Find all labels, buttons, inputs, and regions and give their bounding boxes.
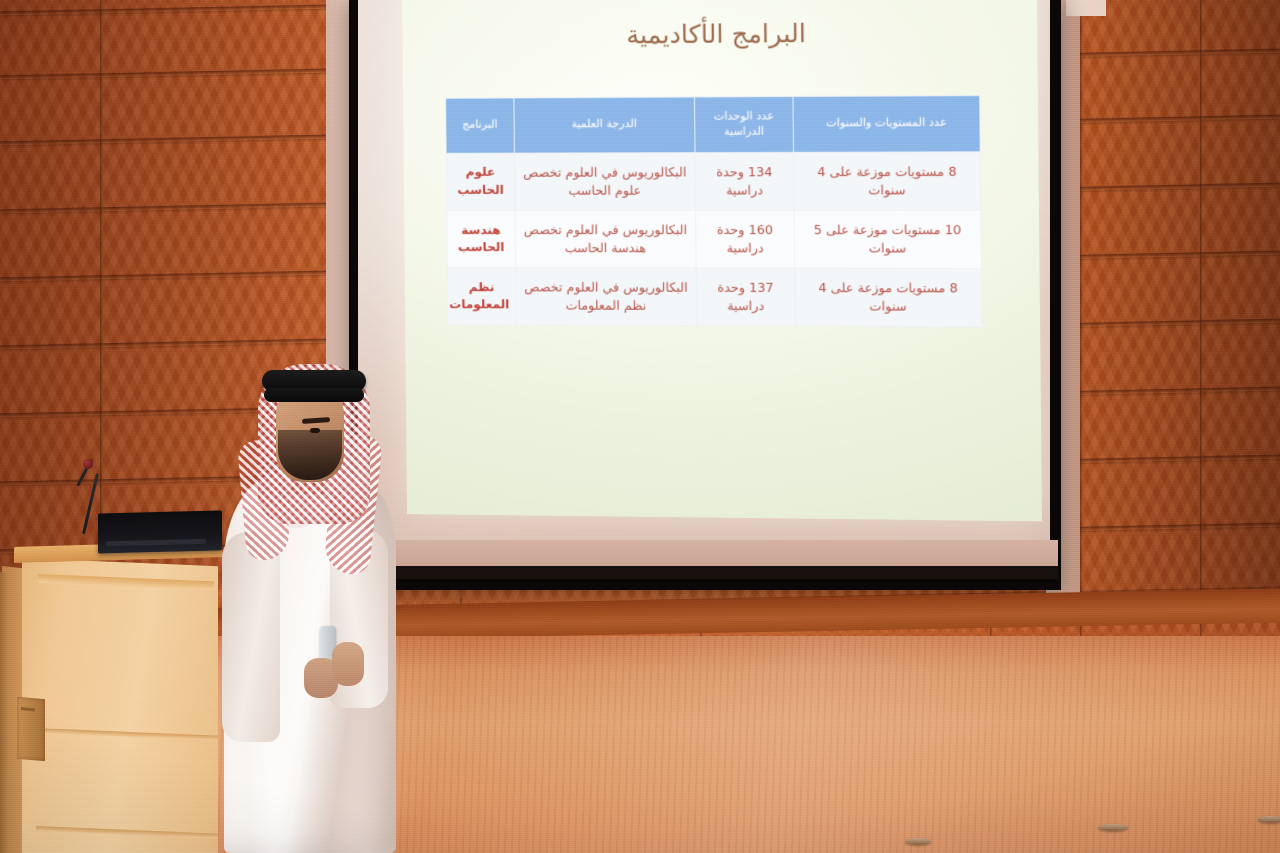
academic-programs-table: عدد المستويات والسنوات عدد الوحدات الدرا… (445, 95, 982, 328)
screen-weight-bar (352, 566, 1058, 579)
table-row: 10 مستويات موزعة على 5 سنوات 160 وحدة در… (447, 210, 982, 269)
table-row: 8 مستويات موزعة على 4 سنوات 137 وحدة درا… (447, 268, 982, 327)
confidence-monitor (98, 510, 222, 553)
table-row: 8 مستويات موزعة على 4 سنوات 134 وحدة درا… (446, 151, 981, 210)
ceiling-strip (1066, 0, 1106, 16)
projected-slide: البرامج الأكاديمية عدد المستويات والسنوا… (402, 0, 1042, 521)
cell-units: 160 وحدة دراسية (696, 210, 795, 268)
cell-units: 134 وحدة دراسية (695, 152, 794, 210)
wooden-lectern (0, 528, 236, 853)
cell-degree: البكالوريوس في العلوم تخصص علوم الحاسب (514, 152, 695, 210)
projection-screen-surface: البرامج الأكاديمية عدد المستويات والسنوا… (358, 0, 1050, 572)
table-header-row: عدد المستويات والسنوات عدد الوحدات الدرا… (446, 96, 981, 154)
cell-levels: 8 مستويات موزعة على 4 سنوات (795, 268, 982, 327)
cell-degree: البكالوريوس في العلوم تخصص هندسة الحاسب (515, 210, 696, 268)
lectern-front-edge (0, 572, 9, 853)
floor-socket (1098, 824, 1128, 831)
column-header-degree: الدرجة العلمية (514, 97, 695, 153)
wall-seam (1200, 0, 1203, 660)
column-header-program: البرنامج (446, 98, 515, 153)
egal-cord-lower (264, 388, 364, 402)
microphone-head (83, 459, 93, 469)
presenter-right-hand (332, 642, 364, 686)
cell-levels: 10 مستويات موزعة على 5 سنوات (794, 210, 981, 269)
presenter-left-arm (222, 532, 280, 742)
column-header-units: عدد الوحدات الدراسية (694, 97, 793, 153)
lecture-hall-photo: البرامج الأكاديمية عدد المستويات والسنوا… (0, 0, 1280, 853)
lectern-latch[interactable] (17, 697, 45, 761)
presenter (206, 356, 406, 853)
floor-socket (905, 838, 931, 845)
cell-program: هندسة الحاسب (447, 210, 516, 268)
column-header-levels: عدد المستويات والسنوات (793, 96, 980, 152)
presenter-eye (310, 428, 320, 433)
lectern-body (22, 558, 218, 853)
cell-degree: البكالوريوس في العلوم تخصص نظم المعلومات (516, 268, 697, 326)
cell-units: 137 وحدة دراسية (696, 268, 795, 326)
slide-title: البرامج الأكاديمية (402, 17, 1037, 51)
cell-program: نظم المعلومات (447, 268, 516, 326)
floor-socket (1258, 816, 1280, 823)
cell-levels: 8 مستويات موزعة على 4 سنوات (794, 151, 981, 210)
wall-seam (1080, 0, 1083, 660)
cell-program: علوم الحاسب (446, 153, 515, 211)
